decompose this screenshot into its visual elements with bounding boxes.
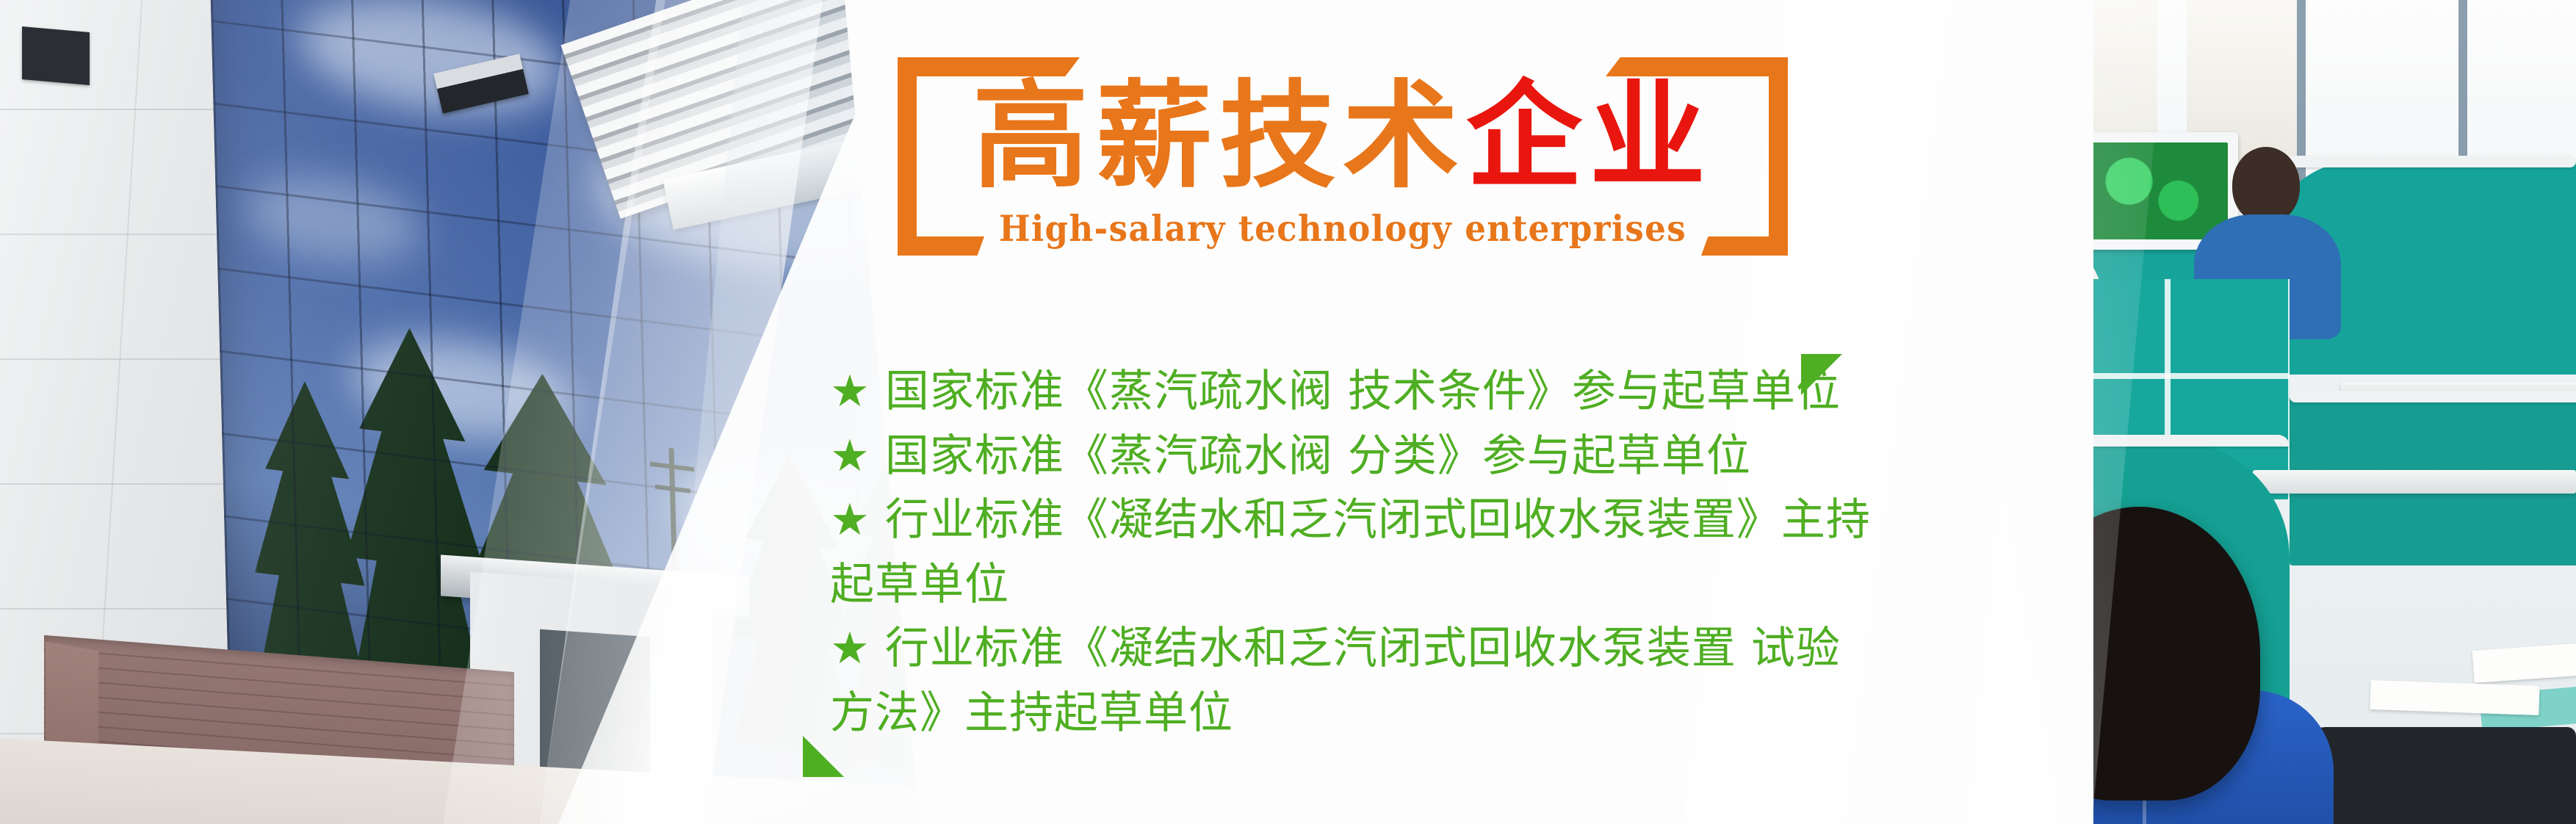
- title-text: 高薪技术企业: [973, 79, 1713, 195]
- title-part-orange: 高薪技术: [973, 69, 1466, 204]
- list-item: ★ 行业标准《凝结水和乏汽闭式回收水泵装置 试验方法》主持起草单位: [830, 617, 1873, 745]
- subtitle-text: High-salary technology enterprises: [933, 207, 1752, 250]
- hero-banner: 高薪技术企业 High-salary technology enterprise…: [0, 0, 2576, 824]
- list-item: ★ 国家标准《蒸汽疏水阀 分类》参与起草单位: [830, 424, 1873, 489]
- banner-content: 高薪技术企业 High-salary technology enterprise…: [0, 0, 2576, 824]
- credentials-list: ★ 国家标准《蒸汽疏水阀 技术条件》参与起草单位 ★ 国家标准《蒸汽疏水阀 分类…: [830, 360, 1873, 746]
- list-item: ★ 国家标准《蒸汽疏水阀 技术条件》参与起草单位: [830, 360, 1873, 424]
- page-title: 高薪技术企业: [898, 63, 1788, 210]
- list-item: ★ 行业标准《凝结水和乏汽闭式回收水泵装置》主持起草单位: [830, 488, 1873, 617]
- title-part-red: 企业: [1466, 69, 1713, 204]
